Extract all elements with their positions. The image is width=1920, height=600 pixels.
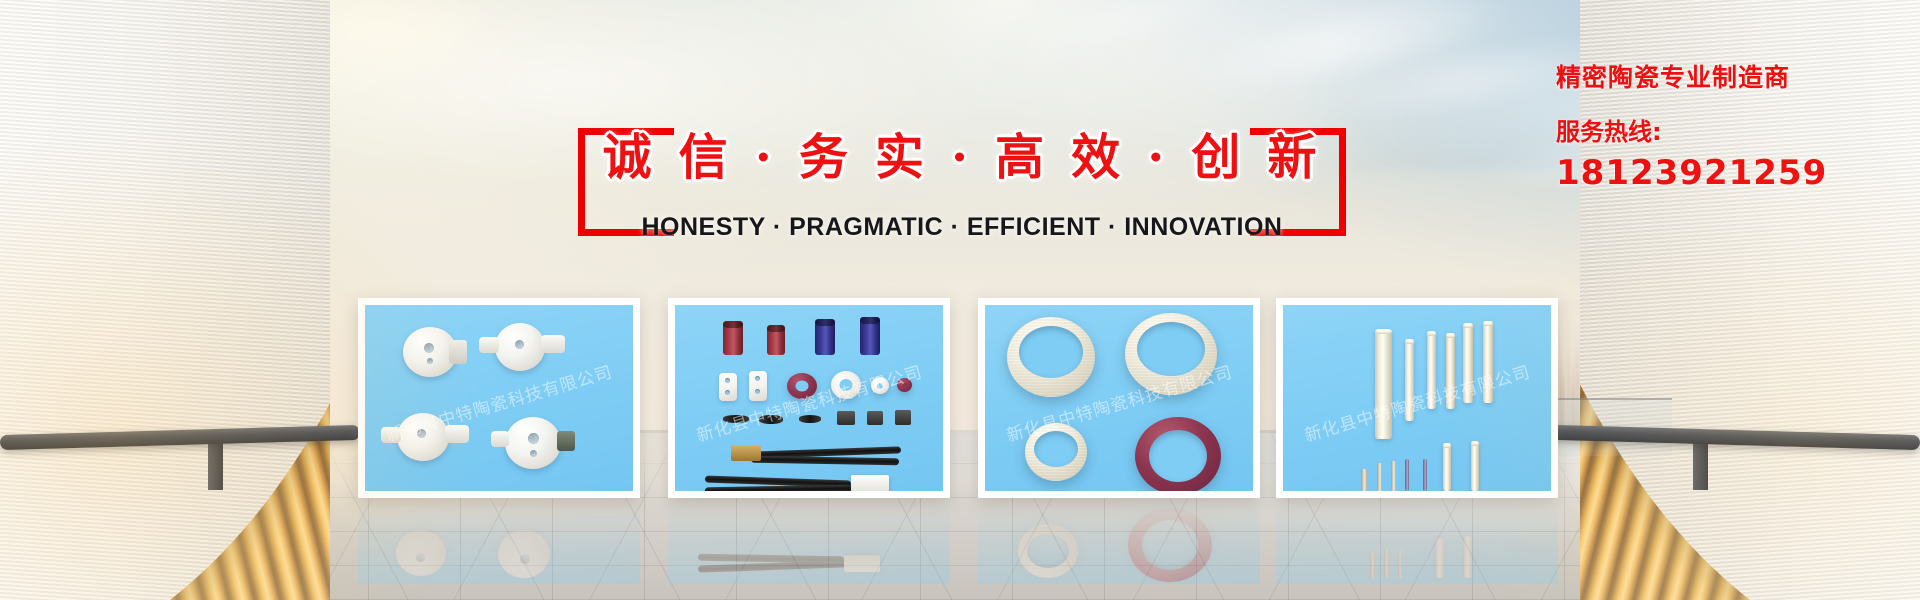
promotional-banner: 诚 信 · 务 实 · 高 效 · 创 新 HONESTY · PRAGMATI… <box>0 0 1920 600</box>
reflection-image <box>358 500 640 584</box>
ceramic-rod-purple <box>1423 459 1427 491</box>
ceramic-lamp-holder <box>505 417 561 469</box>
ceramic-plate <box>719 373 737 401</box>
black-wire <box>705 485 853 491</box>
ceramic-tube-blue <box>815 319 835 355</box>
metal-clip <box>837 411 855 425</box>
reflection-image <box>1276 500 1558 584</box>
ceramic-ring-small-cream <box>1025 423 1087 481</box>
ceramic-lamp-holder <box>397 413 449 461</box>
ceramic-rod <box>1463 323 1473 403</box>
ceramic-ring-small-maroon <box>897 378 912 392</box>
black-wire <box>751 456 899 466</box>
ceramic-lamp-holder <box>495 323 545 371</box>
product-panel-rings[interactable]: 新化县中特陶瓷科技有限公司 <box>978 298 1260 498</box>
metal-blade <box>799 415 821 423</box>
white-connector <box>851 475 889 491</box>
ceramic-ring-white <box>831 371 861 399</box>
ceramic-ring-small <box>871 377 889 394</box>
ceramic-rod <box>1427 331 1436 409</box>
ceramic-rod-medium <box>1443 443 1451 491</box>
metal-blade <box>723 415 749 423</box>
ceramic-rod-tiny <box>1361 469 1367 491</box>
ceramic-tube-red <box>767 325 785 355</box>
ceramic-lamp-holder <box>403 327 457 377</box>
panel-watermark: 新化县中特陶瓷科技有限公司 <box>693 357 925 446</box>
panel-reflection <box>1276 500 1558 584</box>
reflection-image <box>668 500 950 584</box>
panel-watermark: 新化县中特陶瓷科技有限公司 <box>1301 357 1533 446</box>
panel-image-area: 新化县中特陶瓷科技有限公司 <box>675 305 943 491</box>
product-panel-rods[interactable]: 新化县中特陶瓷科技有限公司 <box>1276 298 1558 498</box>
ceramic-tube-blue <box>860 317 880 355</box>
product-panel-lamp-holders[interactable]: 新化县中特陶瓷科技有限公司 <box>358 298 640 498</box>
ceramic-ring-large-cream <box>1007 317 1095 397</box>
ceramic-ring-maroon <box>787 373 817 399</box>
metal-clip <box>867 411 883 425</box>
panel-image-area: 新化县中特陶瓷科技有限公司 <box>1283 305 1551 491</box>
panel-image-area: 新化县中特陶瓷科技有限公司 <box>985 305 1253 491</box>
metal-blade <box>759 415 783 424</box>
ceramic-rod-purple <box>1405 459 1409 491</box>
ceramic-rod-tiny <box>1391 461 1396 491</box>
reflection-image <box>978 500 1260 584</box>
ceramic-rod <box>1405 339 1414 421</box>
panel-reflection <box>978 500 1260 584</box>
ceramic-rod-tiny <box>1377 463 1382 491</box>
brass-connector <box>731 445 761 461</box>
panel-image-area: 新化县中特陶瓷科技有限公司 <box>365 305 633 491</box>
product-panel-components[interactable]: 新化县中特陶瓷科技有限公司 <box>668 298 950 498</box>
ceramic-tube-red <box>723 321 743 355</box>
panel-reflection <box>668 500 950 584</box>
ceramic-rod-medium <box>1471 441 1479 491</box>
metal-clip <box>895 410 911 425</box>
product-panel-strip: 新化县中特陶瓷科技有限公司 <box>0 0 1920 600</box>
ceramic-rod <box>1446 333 1455 409</box>
panel-reflection <box>358 500 640 584</box>
ceramic-ring-maroon-large <box>1135 417 1221 491</box>
ceramic-rod-thick <box>1375 329 1392 439</box>
ceramic-plate <box>749 371 767 401</box>
ceramic-rod <box>1483 321 1493 403</box>
ceramic-ring-large-cream <box>1125 313 1217 395</box>
